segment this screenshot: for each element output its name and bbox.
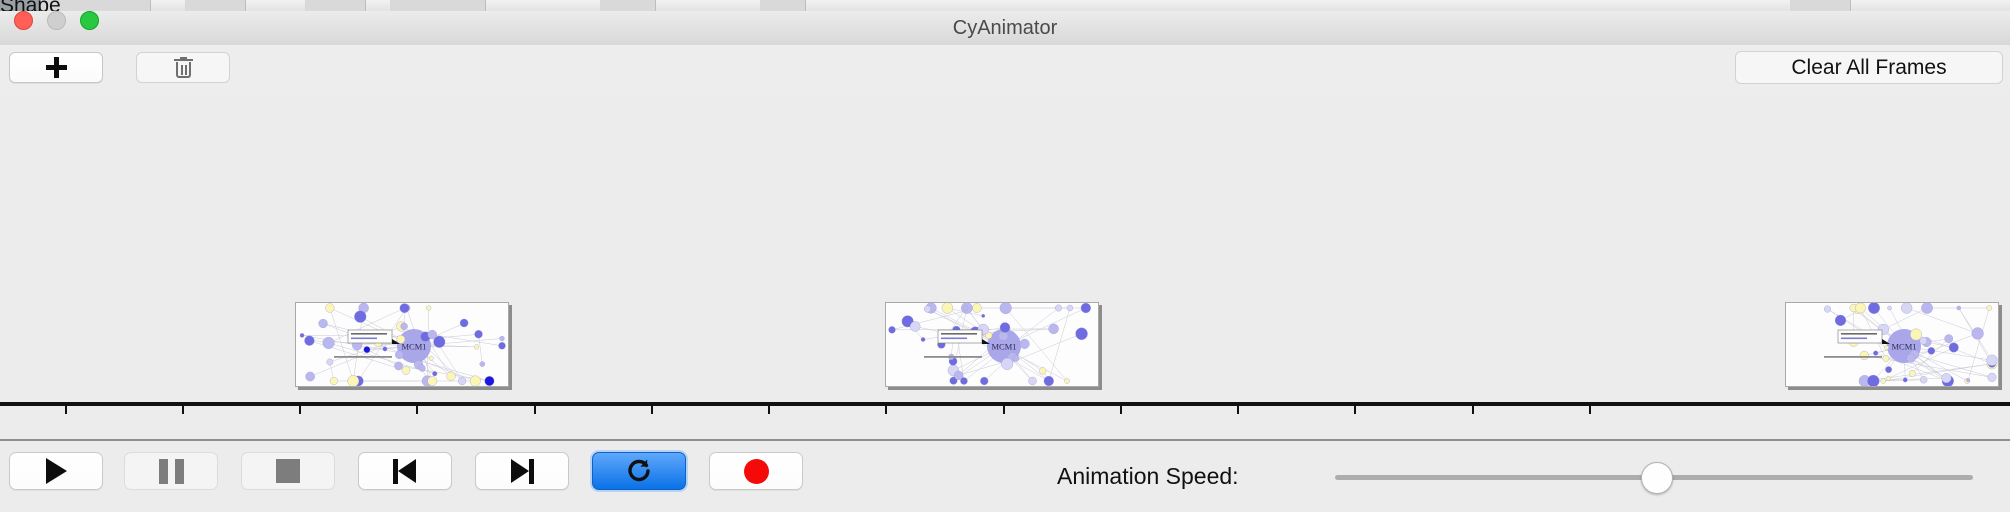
ruler-tick-minor [885,406,887,414]
skip-next-button[interactable] [475,452,569,490]
background-app-label: Shape [0,0,61,11]
playback-control-bar: Animation Speed: [0,439,2010,512]
play-button[interactable] [9,452,103,490]
ruler-tick-major [1003,406,1005,414]
ruler-tick-minor [416,406,418,414]
timeline-frame[interactable]: MCM1 [295,302,512,390]
frame-thumbnail: MCM1 [885,302,1099,387]
timeline-frame[interactable]: MCM1 [885,302,1102,390]
cyanimator-window: Shape CyAnimator Clear All Frames MCM1 [0,0,2010,510]
ruler-tick-major [1237,406,1239,414]
stop-button[interactable] [241,452,335,490]
skip-next-icon [510,459,534,484]
animation-speed-label: Animation Speed: [1057,441,1239,512]
svg-text:MCM1: MCM1 [991,342,1016,352]
page-title: CyAnimator [0,11,2010,45]
delete-frame-button[interactable] [136,52,230,83]
skip-previous-icon [393,459,417,484]
frame-thumbnail: MCM1 [295,302,509,387]
pause-icon [159,459,184,484]
background-window-strip: Shape [0,0,2010,11]
record-icon [744,459,769,484]
ruler-tick-minor [1354,406,1356,414]
skip-previous-button[interactable] [358,452,452,490]
trash-icon [174,57,193,79]
pause-button[interactable] [124,452,218,490]
svg-text:MCM1: MCM1 [401,342,426,352]
ruler-tick-minor [1589,406,1591,414]
plus-icon [46,57,67,78]
minimize-button[interactable] [47,11,66,30]
timeline-frame[interactable]: MCM1 [1785,302,2002,390]
title-bar: CyAnimator [0,11,2010,46]
loop-button[interactable] [592,452,686,490]
ruler-tick-major [768,406,770,414]
ruler-tick-major [1472,406,1474,414]
slider-handle[interactable] [1641,462,1673,494]
ruler-tick-major [534,406,536,414]
timeline-panel[interactable]: MCM1 MCM1 MCM1 12131415161718 Seconds [0,89,2010,414]
add-frame-button[interactable] [9,52,103,83]
ruler-tick-major [299,406,301,414]
timeline-ruler [0,402,2010,406]
loop-icon [624,456,654,486]
ruler-tick-major [65,406,67,414]
clear-all-frames-label: Clear All Frames [1791,56,1946,80]
animation-speed-slider[interactable] [1335,475,1973,480]
record-button[interactable] [709,452,803,490]
frame-thumbnail: MCM1 [1785,302,1999,387]
ruler-tick-minor [182,406,184,414]
play-icon [46,458,67,484]
frame-toolbar: Clear All Frames [0,45,2010,90]
ruler-tick-minor [651,406,653,414]
close-button[interactable] [14,11,33,30]
window-controls[interactable] [14,11,99,30]
ruler-tick-minor [1120,406,1122,414]
clear-all-frames-button[interactable]: Clear All Frames [1735,51,2003,84]
stop-icon [276,459,300,483]
zoom-button[interactable] [80,11,99,30]
svg-text:MCM1: MCM1 [1891,342,1916,352]
